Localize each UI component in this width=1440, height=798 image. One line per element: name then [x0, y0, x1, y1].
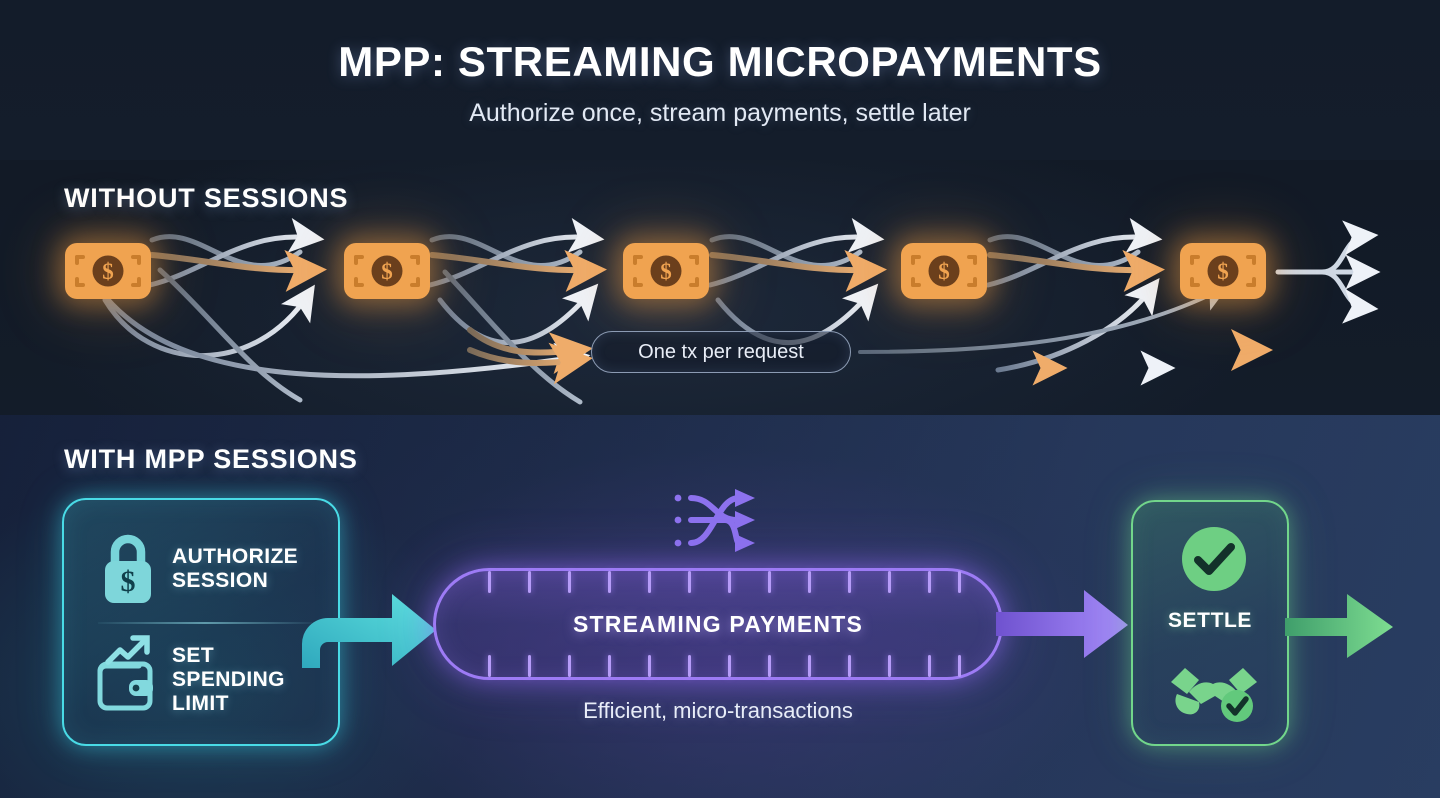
page-title: MPP: STREAMING MICROPAYMENTS [0, 38, 1440, 86]
svg-text:$: $ [121, 565, 136, 598]
infographic-canvas: MPP: STREAMING MICROPAYMENTS Authorize o… [0, 0, 1440, 798]
svg-text:$: $ [660, 259, 672, 284]
with-mpp-sessions-heading: WITH MPP SESSIONS [64, 444, 358, 475]
wallet-growth-icon [90, 642, 166, 718]
settle-label: SETTLE [1133, 609, 1287, 633]
badge-label: One tx per request [638, 341, 804, 364]
set-spending-limit-label: SET SPENDING LIMIT [172, 644, 285, 715]
one-tx-per-request-badge: One tx per request [591, 331, 851, 373]
shuffle-merge-icon [673, 487, 768, 555]
svg-text:$: $ [938, 259, 950, 284]
streaming-payments-label: STREAMING PAYMENTS [436, 571, 1000, 677]
authorize-session-label: AUTHORIZE SESSION [172, 545, 298, 592]
set-spending-limit-row[interactable]: SET SPENDING LIMIT [64, 630, 285, 730]
money-bill-dollar-icon: $ [1180, 243, 1266, 299]
lock-dollar-icon: $ [90, 532, 166, 606]
handshake-check-icon [1167, 654, 1263, 724]
page-subtitle: Authorize once, stream payments, settle … [0, 99, 1440, 128]
money-bill-dollar-icon: $ [623, 243, 709, 299]
money-bill-dollar-icon: $ [65, 243, 151, 299]
pipe-caption: Efficient, micro-transactions [433, 698, 1003, 724]
svg-text:$: $ [1217, 259, 1229, 284]
arrow-pipe-to-settle [996, 590, 1136, 660]
header-band: MPP: STREAMING MICROPAYMENTS Authorize o… [0, 0, 1440, 160]
svg-text:$: $ [381, 259, 393, 284]
streaming-payments-pipe: STREAMING PAYMENTS [433, 568, 1003, 680]
arrow-auth-to-pipe [296, 580, 441, 670]
money-bill-dollar-icon: $ [344, 243, 430, 299]
check-circle-icon [1181, 526, 1247, 592]
money-bill-dollar-icon: $ [901, 243, 987, 299]
authorize-session-row[interactable]: $ AUTHORIZE SESSION [64, 522, 298, 616]
card-divider [98, 622, 312, 624]
svg-text:$: $ [102, 259, 114, 284]
arrow-settle-out [1285, 592, 1415, 662]
settle-card[interactable]: SETTLE [1131, 500, 1289, 746]
